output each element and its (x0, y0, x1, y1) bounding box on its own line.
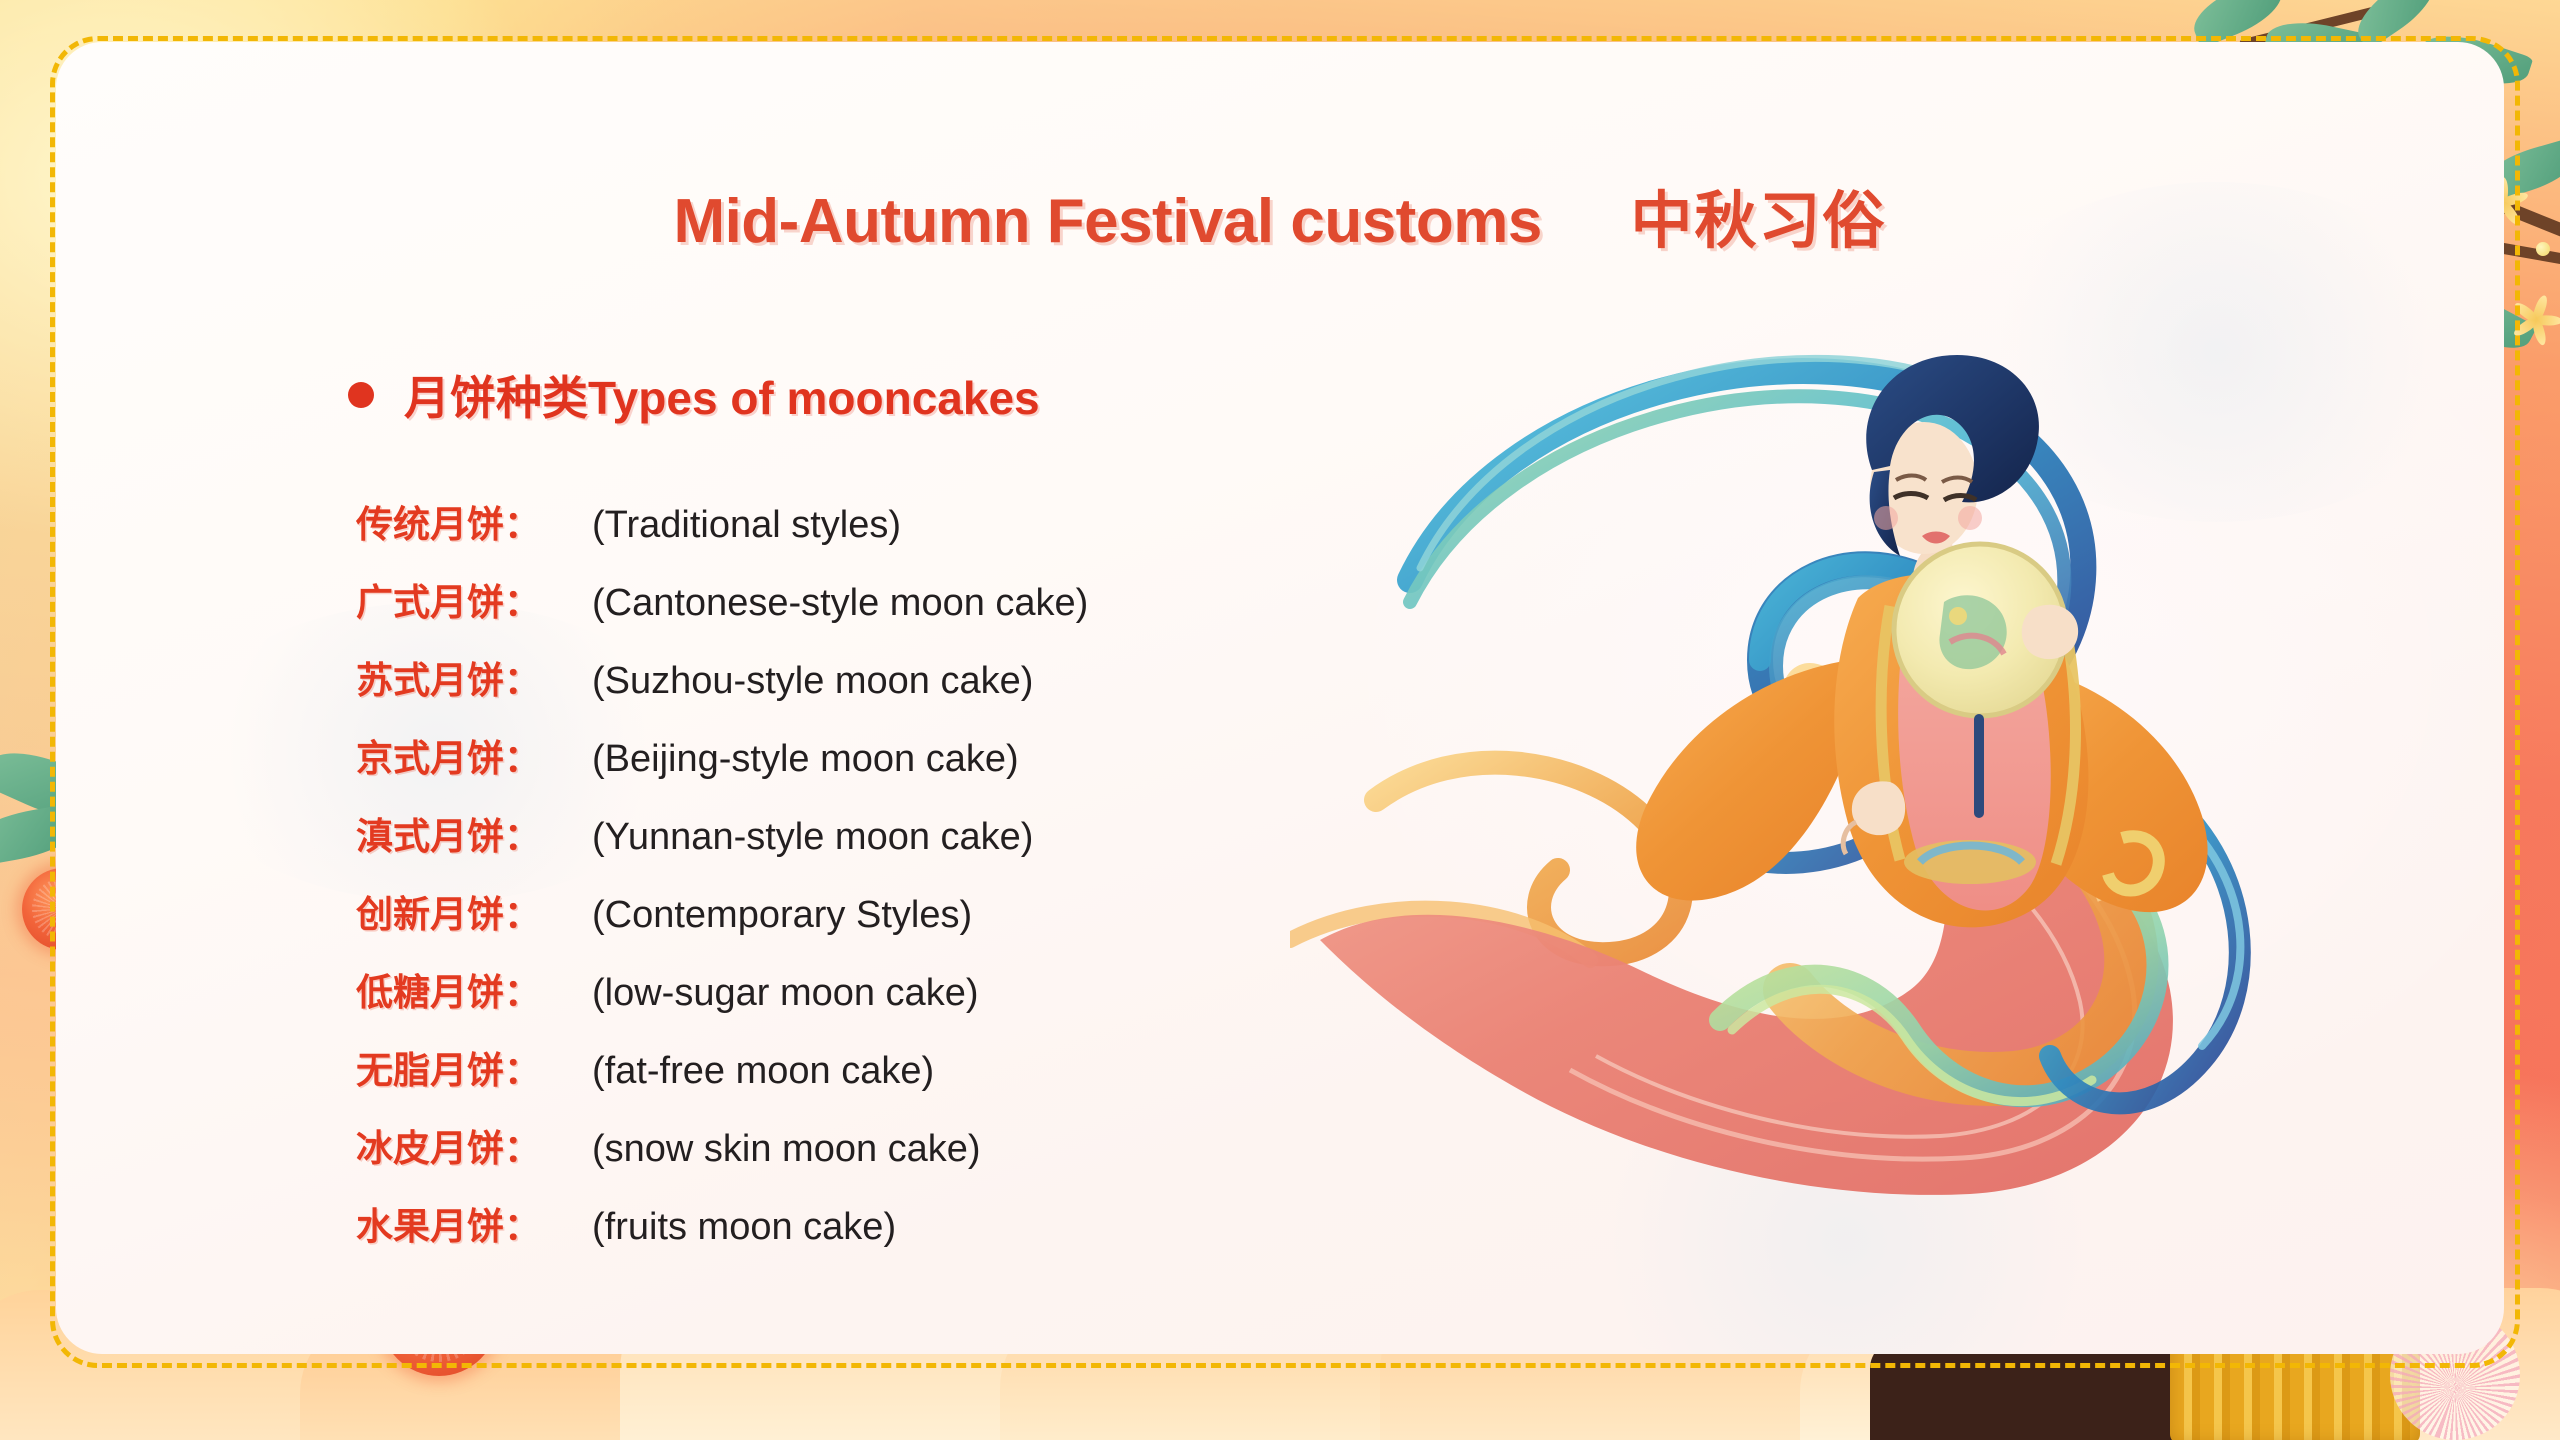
list-item: 创新月饼：(Contemporary Styles) (356, 884, 1088, 962)
mooncake-type-label-cn: 低糖月饼： (356, 962, 592, 1016)
filled-circle-bullet-icon (348, 382, 374, 408)
mooncake-type-label-en: (Traditional styles) (592, 504, 901, 547)
mooncake-type-label-cn: 创新月饼： (356, 884, 592, 938)
page-title: Mid-Autumn Festival customs 中秋习俗 (56, 170, 2504, 260)
slide-canvas: Mid-Autumn Festival customs 中秋习俗 月饼种类Typ… (0, 0, 2560, 1440)
mooncake-type-label-cn: 滇式月饼： (356, 806, 592, 860)
mooncake-type-label-cn: 无脂月饼： (356, 1040, 592, 1094)
mooncake-type-label-en: (snow skin moon cake) (592, 1128, 981, 1171)
mooncake-type-label-en: (fruits moon cake) (592, 1206, 896, 1249)
mooncake-type-label-en: (Contemporary Styles) (592, 894, 972, 937)
mooncake-type-label-cn: 京式月饼： (356, 728, 592, 782)
list-item: 水果月饼：(fruits moon cake) (356, 1196, 1088, 1274)
list-item: 广式月饼：(Cantonese-style moon cake) (356, 572, 1088, 650)
list-item: 苏式月饼：(Suzhou-style moon cake) (356, 650, 1088, 728)
change-moon-goddess-illustration (1290, 330, 2470, 1250)
page-title-cn: 中秋习俗 (1631, 187, 1887, 256)
mooncake-type-label-cn: 广式月饼： (356, 572, 592, 626)
mooncake-type-list: 传统月饼：(Traditional styles)广式月饼：(Cantonese… (356, 494, 1088, 1274)
section-heading: 月饼种类Types of mooncakes (348, 362, 1040, 428)
list-item: 冰皮月饼：(snow skin moon cake) (356, 1118, 1088, 1196)
mooncake-type-label-en: (fat-free moon cake) (592, 1050, 934, 1093)
page-title-en: Mid-Autumn Festival customs (673, 187, 1541, 256)
mooncake-type-label-en: (Beijing-style moon cake) (592, 738, 1019, 781)
content-card: Mid-Autumn Festival customs 中秋习俗 月饼种类Typ… (56, 42, 2504, 1354)
mooncake-type-label-cn: 冰皮月饼： (356, 1118, 592, 1172)
list-item: 低糖月饼：(low-sugar moon cake) (356, 962, 1088, 1040)
mooncake-type-label-cn: 水果月饼： (356, 1196, 592, 1250)
section-heading-label: 月饼种类Types of mooncakes (404, 362, 1040, 428)
mooncake-type-label-en: (Cantonese-style moon cake) (592, 582, 1088, 625)
list-item: 京式月饼：(Beijing-style moon cake) (356, 728, 1088, 806)
mooncake-type-label-cn: 苏式月饼： (356, 650, 592, 704)
mooncake-type-label-en: (Yunnan-style moon cake) (592, 816, 1033, 859)
mooncake-type-label-cn: 传统月饼： (356, 494, 592, 548)
mooncake-type-label-en: (low-sugar moon cake) (592, 972, 978, 1015)
list-item: 滇式月饼：(Yunnan-style moon cake) (356, 806, 1088, 884)
list-item: 传统月饼：(Traditional styles) (356, 494, 1088, 572)
list-item: 无脂月饼：(fat-free moon cake) (356, 1040, 1088, 1118)
mooncake-type-label-en: (Suzhou-style moon cake) (592, 660, 1033, 703)
